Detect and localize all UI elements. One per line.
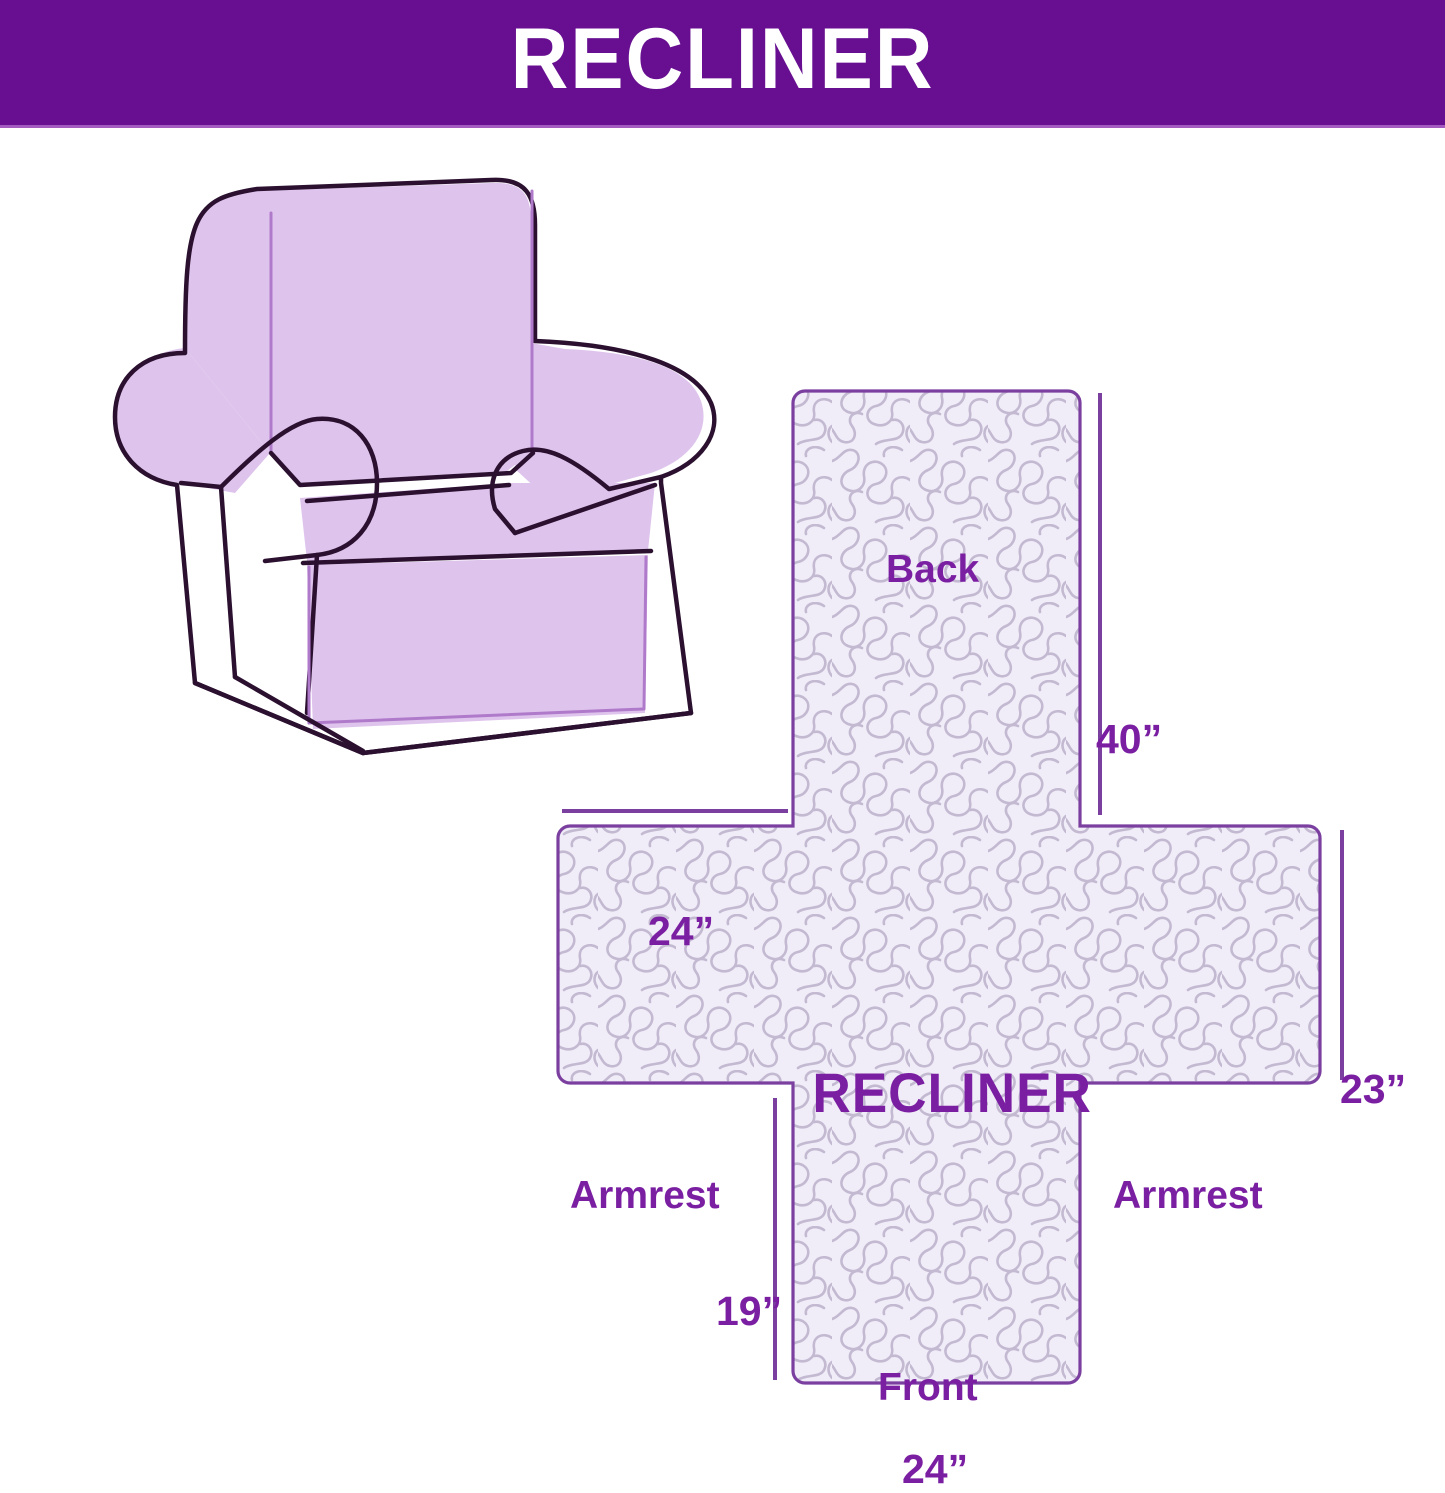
panel-label-front: Front (878, 1366, 978, 1410)
panel-label-back: Back (886, 548, 979, 592)
dimension-label-back-height: 40” (1096, 716, 1162, 763)
diagram-stage: Back Front Armrest Armrest RECLINER 40” … (0, 128, 1445, 1445)
dimension-label-front-height: 19” (716, 1288, 782, 1335)
dimension-label-armrest-depth: 23” (1340, 1066, 1406, 1113)
page-title: RECLINER (51, 0, 1395, 125)
chair-left-arm-front-edge (221, 487, 235, 677)
panel-label-armrest-left: Armrest (570, 1174, 720, 1218)
dimension-label-front-width: 24” (902, 1446, 968, 1493)
slipcover-pattern-diagram (520, 368, 1445, 1398)
header-banner: RECLINER (0, 0, 1445, 128)
pattern-center-label: RECLINER (812, 1060, 1092, 1125)
slipcover-cross-outline (558, 391, 1320, 1383)
dimension-label-back-width: 24” (648, 908, 714, 955)
panel-label-armrest-right: Armrest (1113, 1174, 1263, 1218)
